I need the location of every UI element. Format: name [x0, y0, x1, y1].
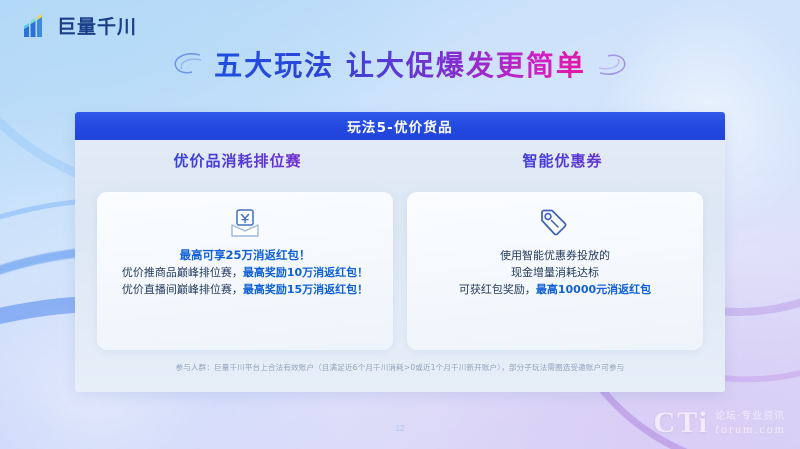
card-line-highlight: 最高奖励10万消返红包！ [243, 266, 368, 279]
card-line-highlight: 最高奖励15万消返红包！ [243, 283, 368, 296]
red-packet-yuan-icon [227, 207, 263, 239]
watermark-right: 论坛·专业资讯 forum.com [715, 411, 786, 437]
watermark-en-text: forum.com [715, 423, 786, 435]
card-icon-wrap-right [538, 206, 572, 240]
card-smart-coupon: 使用智能优惠券投放的 现金增量消耗达标 可获红包奖励，最高10000元消返红包 [407, 192, 703, 350]
card-body-right: 使用智能优惠券投放的 现金增量消耗达标 可获红包奖励，最高10000元消返红包 [407, 247, 703, 298]
panel-header: 玩法5-优价货品 [75, 112, 725, 140]
card-line: 最高可享25万消返红包！ [97, 247, 393, 264]
headline-row: 五大玩法 让大促爆发更简单 [0, 44, 800, 84]
card-line-normal: 现金增量消耗达标 [511, 266, 599, 279]
card-row: 最高可享25万消返红包！ 优价推商品巅峰排位赛，最高奖励10万消返红包！ 优价直… [97, 192, 703, 350]
panel-footnote: 参与人群：巨量千川平台上合法有效账户（且满足近6个月千川消耗>0或近1个月千川新… [75, 362, 725, 373]
brand-logo-text: 巨量千川 [57, 12, 137, 39]
section-title-left: 优价品消耗排位赛 [75, 150, 400, 171]
brand-logo: 巨量千川 [22, 12, 137, 39]
section-title-row: 优价品消耗排位赛 智能优惠券 [75, 150, 725, 171]
card-line: 可获红包奖励，最高10000元消返红包 [407, 281, 703, 298]
card-line: 使用智能优惠券投放的 [407, 247, 703, 264]
card-line: 优价直播间巅峰排位赛，最高奖励15万消返红包！ [97, 281, 393, 298]
card-line-normal: 可获红包奖励， [459, 283, 536, 296]
card-line: 优价推商品巅峰排位赛，最高奖励10万消返红包！ [97, 264, 393, 281]
card-line-normal: 优价推商品巅峰排位赛， [122, 266, 243, 279]
card-line-highlight: 最高10000元消返红包 [536, 283, 651, 296]
bar-chart-icon [22, 13, 50, 39]
card-price-ranking: 最高可享25万消返红包！ 优价推商品巅峰排位赛，最高奖励10万消返红包！ 优价直… [97, 192, 393, 350]
card-icon-wrap-left [227, 206, 263, 240]
swoosh-left-icon [170, 51, 204, 77]
card-line-highlight: 最高可享25万消返红包！ [179, 248, 310, 262]
watermark: CTi 论坛·专业资讯 forum.com [654, 409, 786, 437]
watermark-cti-text: CTi [654, 409, 709, 437]
panel-header-title: 玩法5-优价货品 [347, 116, 453, 136]
card-line-normal: 优价直播间巅峰排位赛， [122, 283, 243, 296]
card-line-normal: 使用智能优惠券投放的 [500, 249, 610, 262]
card-body-left: 最高可享25万消返红包！ 优价推商品巅峰排位赛，最高奖励10万消返红包！ 优价直… [97, 247, 393, 298]
page-title: 五大玩法 让大促爆发更简单 [214, 44, 586, 84]
card-line: 现金增量消耗达标 [407, 264, 703, 281]
slide-root: 巨量千川 五大玩法 让大促爆发更简单 玩法5-优价货品 优价品消耗排位赛 智能优… [0, 0, 800, 449]
swoosh-right-icon [596, 51, 630, 77]
section-title-right: 智能优惠券 [400, 150, 725, 171]
content-panel: 玩法5-优价货品 优价品消耗排位赛 智能优惠券 [75, 112, 725, 392]
price-tag-coupon-icon [538, 207, 572, 239]
